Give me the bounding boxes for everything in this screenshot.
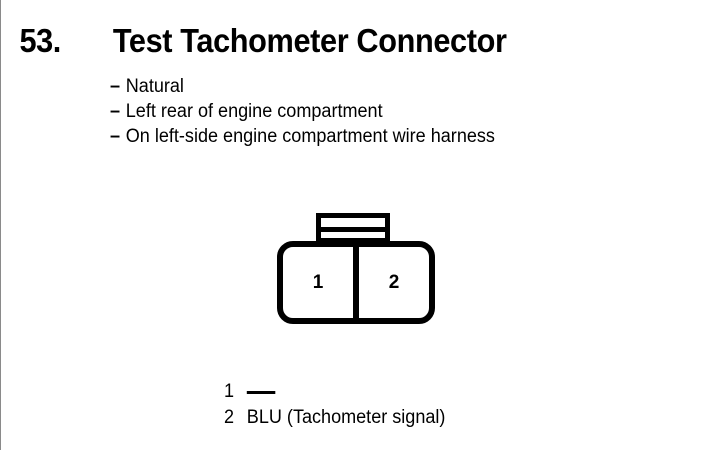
cavity-number-label: 2 [389,273,400,292]
attribute-item: – On left-side engine compartment wire h… [110,124,495,149]
legend-row: 1 [224,379,445,405]
legend-pin-number: 1 [224,379,236,405]
step-number: 53. [20,22,61,60]
legend-no-connection-rule-icon [247,391,275,394]
connector-cavity-1: 1 [283,247,353,318]
connector-latch-tab-icon [316,213,390,243]
en-dash-bullet-icon: – [110,124,120,149]
cavity-number-label: 1 [313,273,324,292]
connector-reference-page: 53. Test Tachometer Connector – Natural … [0,0,704,450]
page-title: 53. Test Tachometer Connector [18,22,522,60]
latch-slot-divider [321,227,385,232]
connector-cavity-2: 2 [353,247,429,318]
connector-attribute-list: – Natural – Left rear of engine compartm… [110,74,515,149]
legend-pin-number: 2 [224,405,236,431]
attribute-label: On left-side engine compartment wire har… [126,124,495,149]
en-dash-bullet-icon: – [110,74,120,99]
legend-wire-description: BLU (Tachometer signal) [247,405,446,431]
connector-diagram: 1 2 [275,210,440,328]
attribute-label: Left rear of engine compartment [126,99,383,124]
step-title: Test Tachometer Connector [113,22,507,60]
legend-row: 2 BLU (Tachometer signal) [224,405,445,431]
attribute-label: Natural [126,74,184,99]
attribute-item: – Left rear of engine compartment [110,99,495,124]
page-left-border [0,0,1,450]
en-dash-bullet-icon: – [110,99,120,124]
pin-legend: 1 2 BLU (Tachometer signal) [224,379,457,431]
connector-body: 1 2 [277,241,435,324]
attribute-item: – Natural [110,74,495,99]
